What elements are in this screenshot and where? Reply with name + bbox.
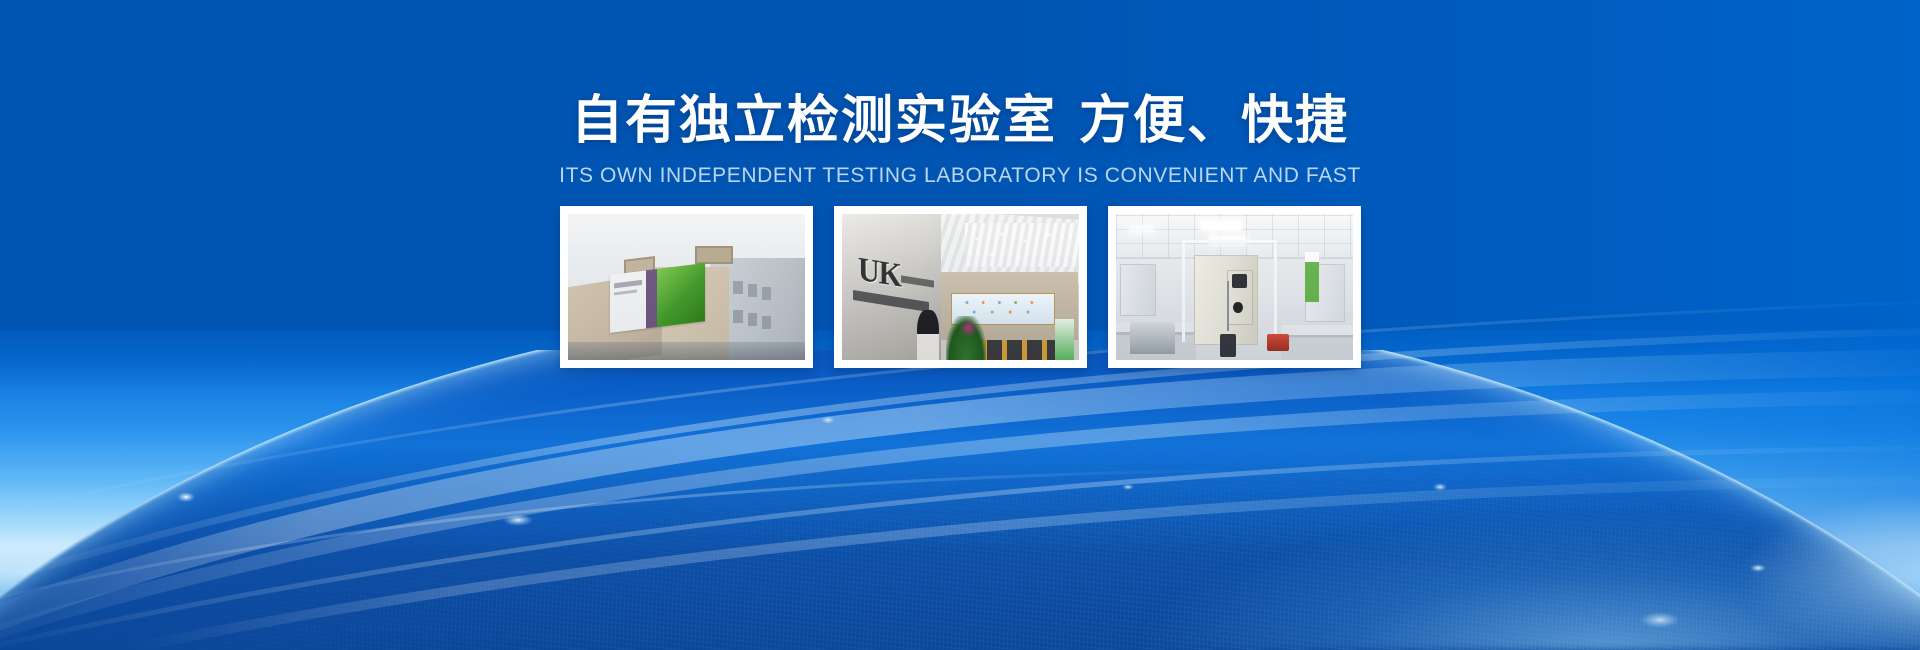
photo-card-building-exterior[interactable]: [560, 206, 813, 368]
globe-city-scene: [0, 350, 1920, 650]
subtitle: ITS OWN INDEPENDENT TESTING LABORATORY I…: [0, 164, 1920, 188]
reception-lobby-image: UK: [842, 214, 1079, 360]
person-silhouette: [917, 310, 938, 360]
city-lights-texture: [0, 350, 1920, 650]
testing-laboratory-image: [1116, 214, 1353, 360]
uk-wall-sign: UK: [858, 253, 901, 293]
headline-block: 自有独立检测实验室方便、快捷 ITS OWN INDEPENDENT TESTI…: [0, 92, 1920, 188]
photo-card-row: UK: [0, 206, 1920, 368]
headline-main: 自有独立检测实验室: [571, 92, 1057, 150]
billboard-graphic: [610, 264, 705, 334]
headline-secondary: 方便、快捷: [1079, 92, 1349, 150]
page-title: 自有独立检测实验室方便、快捷: [0, 92, 1920, 150]
photo-card-testing-laboratory[interactable]: [1108, 206, 1361, 368]
photo-card-reception-lobby[interactable]: UK: [834, 206, 1087, 368]
hero-banner: 自有独立检测实验室方便、快捷 ITS OWN INDEPENDENT TESTI…: [0, 0, 1920, 650]
test-chamber: [1194, 255, 1258, 346]
building-exterior-image: [568, 214, 805, 360]
